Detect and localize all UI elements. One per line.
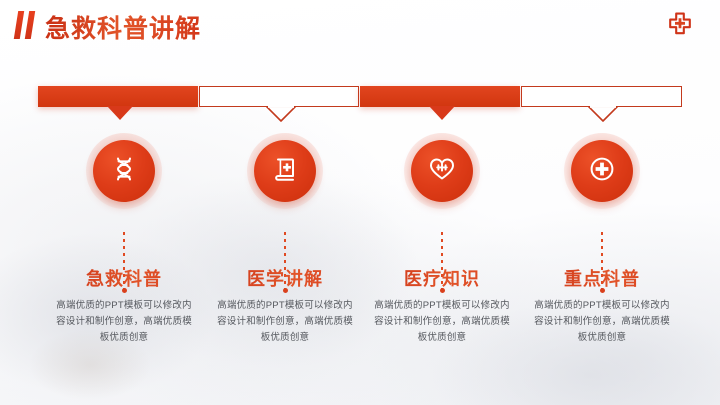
progress-segment-4[interactable] (521, 86, 682, 107)
progress-segment-2[interactable] (199, 86, 359, 107)
feature-desc-2: 高端优质的PPT模板可以修改内容设计和制作创意，高端优质模板优质创意 (213, 298, 357, 346)
icon-circle[interactable] (571, 140, 633, 202)
progress-notch-1 (107, 106, 133, 120)
icon-badge-1[interactable] (93, 140, 155, 202)
feature-column-1[interactable]: 急救科普 高端优质的PPT模板可以修改内容设计和制作创意，高端优质模板优质创意 (39, 140, 209, 202)
presentation-slide: 急救科普讲解 (0, 0, 720, 405)
feature-title-4: 重点科普 (517, 265, 687, 291)
icon-circle[interactable] (93, 140, 155, 202)
segmented-progress-bar[interactable] (38, 86, 682, 107)
progress-notch-2 (268, 106, 294, 120)
icon-circle[interactable] (254, 140, 316, 202)
icon-badge-4[interactable] (571, 140, 633, 202)
title-accent-bars (16, 11, 38, 39)
medical-cross-icon (667, 12, 693, 38)
feature-column-2[interactable]: 医学讲解 高端优质的PPT模板可以修改内容设计和制作创意，高端优质模板优质创意 (200, 140, 370, 202)
medical-book-icon (271, 155, 299, 188)
icon-badge-3[interactable] (411, 140, 473, 202)
dna-helix-icon (110, 155, 138, 188)
feature-title-2: 医学讲解 (200, 265, 370, 291)
icon-circle[interactable] (411, 140, 473, 202)
heart-pulse-icon (428, 155, 456, 188)
slide-header: 急救科普讲解 (0, 0, 720, 52)
feature-desc-3: 高端优质的PPT模板可以修改内容设计和制作创意，高端优质模板优质创意 (370, 298, 514, 346)
feature-column-4[interactable]: 重点科普 高端优质的PPT模板可以修改内容设计和制作创意，高端优质模板优质创意 (517, 140, 687, 202)
feature-desc-4: 高端优质的PPT模板可以修改内容设计和制作创意，高端优质模板优质创意 (530, 298, 674, 346)
page-title: 急救科普讲解 (45, 9, 201, 45)
feature-column-3[interactable]: 医疗知识 高端优质的PPT模板可以修改内容设计和制作创意，高端优质模板优质创意 (357, 140, 527, 202)
progress-segment-3[interactable] (360, 86, 520, 107)
progress-notch-4 (590, 106, 616, 120)
feature-desc-1: 高端优质的PPT模板可以修改内容设计和制作创意，高端优质模板优质创意 (52, 298, 196, 346)
progress-segment-1[interactable] (38, 86, 198, 107)
progress-notch-3 (429, 106, 455, 120)
feature-title-1: 急救科普 (39, 265, 209, 291)
feature-title-3: 医疗知识 (357, 265, 527, 291)
first-aid-cross-circle-icon (588, 155, 616, 188)
icon-badge-2[interactable] (254, 140, 316, 202)
